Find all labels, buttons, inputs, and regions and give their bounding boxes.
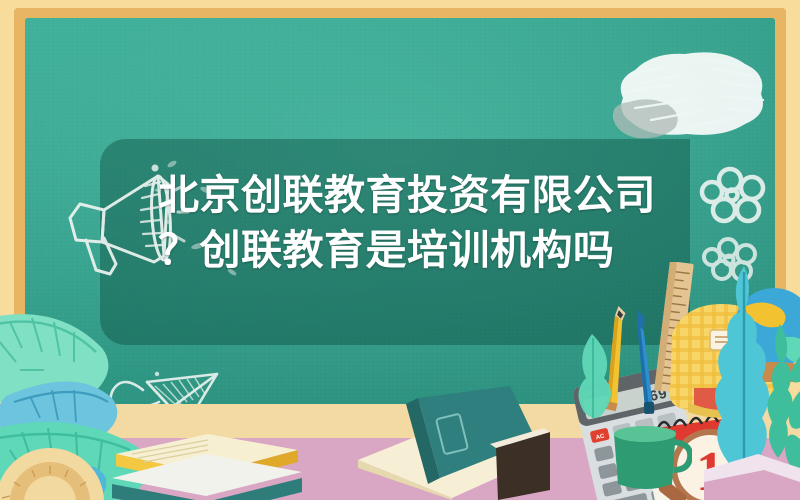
blue-pen [626, 310, 666, 418]
teal-notebook [300, 386, 550, 500]
stacked-books-left [112, 398, 302, 500]
green-mug [604, 424, 692, 496]
cover-image-stage: 北京创联教育投资有限公司 ？创联教育是培训机构吗 [0, 0, 800, 500]
page-title-line-1: 北京创联教育投资有限公司 [158, 168, 678, 223]
small-leaves-mid [556, 330, 626, 426]
chalk-eraser-smudge-icon [605, 40, 780, 150]
page-title: 北京创联教育投资有限公司 ？创联教育是培训机构吗 [158, 168, 678, 278]
protractor [0, 446, 114, 500]
page-title-line-2: ？创联教育是培训机构吗 [158, 223, 678, 278]
paper-sheets-bottom [704, 452, 800, 500]
